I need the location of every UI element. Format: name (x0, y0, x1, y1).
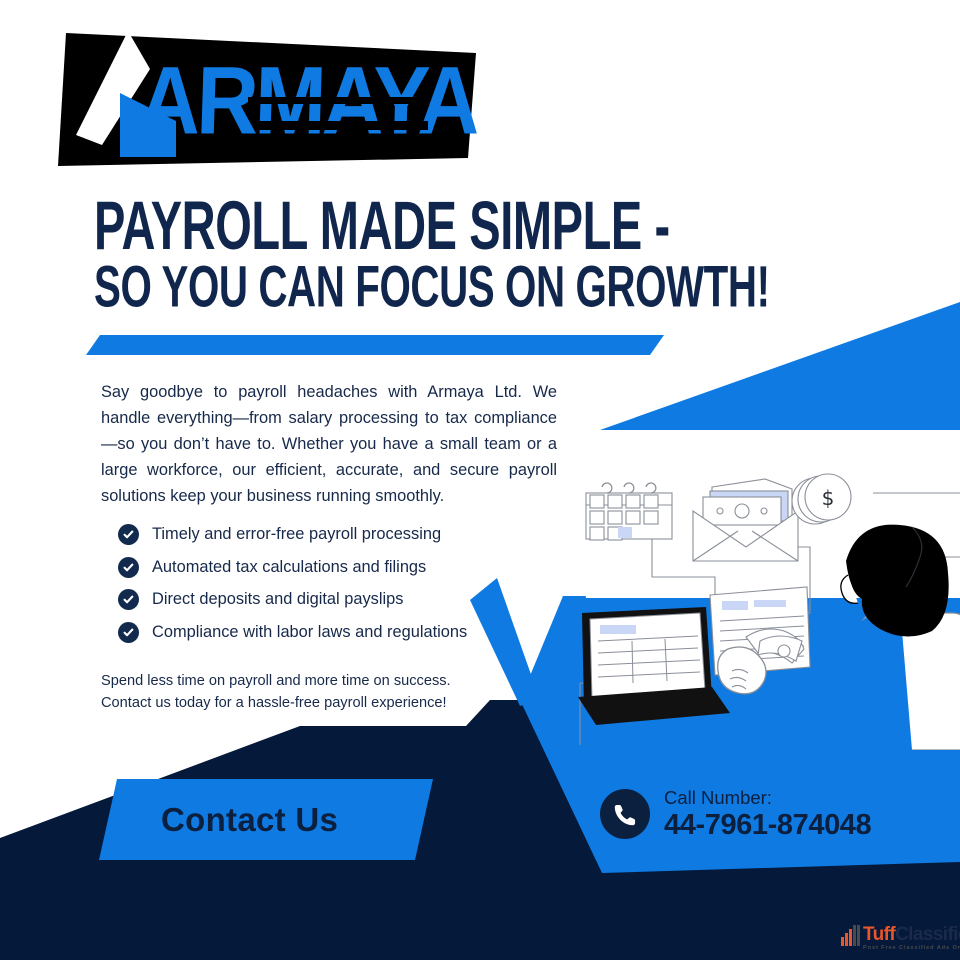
payroll-illustration: $ (560, 435, 960, 750)
watermark-name-part2: Classified (895, 924, 960, 945)
closing-line-1: Spend less time on payroll and more time… (101, 670, 541, 692)
watermark-text: TuffClassified Post Free Classified Ads … (863, 925, 960, 952)
check-circle-icon (118, 589, 139, 610)
phone-number: 44-7961-874048 (664, 810, 871, 840)
company-logo: ARMAYA (58, 25, 476, 166)
contact-us-label: Contact Us (161, 801, 338, 839)
page-title: PAYROLL MADE SIMPLE - SO YOU CAN FOCUS O… (94, 200, 714, 310)
logo-strike-upper (248, 97, 428, 104)
check-circle-icon (118, 557, 139, 578)
call-block[interactable]: Call Number: 44-7961-874048 (600, 788, 871, 841)
closing-line-2: Contact us today for a hassle-free payro… (101, 692, 541, 714)
check-circle-icon (118, 622, 139, 643)
watermark-tagline: Post Free Classified Ads Online (863, 946, 960, 952)
closing-copy: Spend less time on payroll and more time… (101, 670, 541, 714)
logo-strike-lower (258, 121, 428, 130)
list-item: Timely and error-free payroll processing (118, 524, 558, 545)
phone-icon (600, 789, 650, 839)
check-circle-icon (118, 524, 139, 545)
watermark-name: TuffClassified (863, 924, 960, 945)
list-item: Automated tax calculations and filings (118, 557, 558, 578)
headline-underline-bar (86, 335, 664, 355)
tuffclassified-watermark: TuffClassified Post Free Classified Ads … (841, 925, 960, 952)
watermark-name-part1: Tuff (863, 924, 895, 945)
benefit-label: Compliance with labor laws and regulatio… (152, 623, 467, 642)
benefits-list: Timely and error-free payroll processing… (118, 524, 558, 654)
benefit-label: Automated tax calculations and filings (152, 558, 426, 577)
intro-paragraph: Say goodbye to payroll headaches with Ar… (101, 380, 557, 510)
benefit-label: Direct deposits and digital payslips (152, 590, 403, 609)
list-item: Compliance with labor laws and regulatio… (118, 622, 558, 643)
contact-us-button[interactable]: Contact Us (99, 779, 433, 860)
headline-line-2: SO YOU CAN FOCUS ON GROWTH! (94, 261, 615, 315)
svg-text:$: $ (822, 486, 835, 510)
call-number-label: Call Number: (664, 788, 871, 807)
headline-line-1: PAYROLL MADE SIMPLE - (94, 194, 615, 257)
list-item: Direct deposits and digital payslips (118, 589, 558, 610)
bar-chart-icon (841, 925, 861, 946)
poster-canvas: ARMAYA PAYROLL MADE SIMPLE - SO YOU CAN … (0, 0, 960, 960)
call-text-group: Call Number: 44-7961-874048 (664, 788, 871, 841)
benefit-label: Timely and error-free payroll processing (152, 525, 441, 544)
